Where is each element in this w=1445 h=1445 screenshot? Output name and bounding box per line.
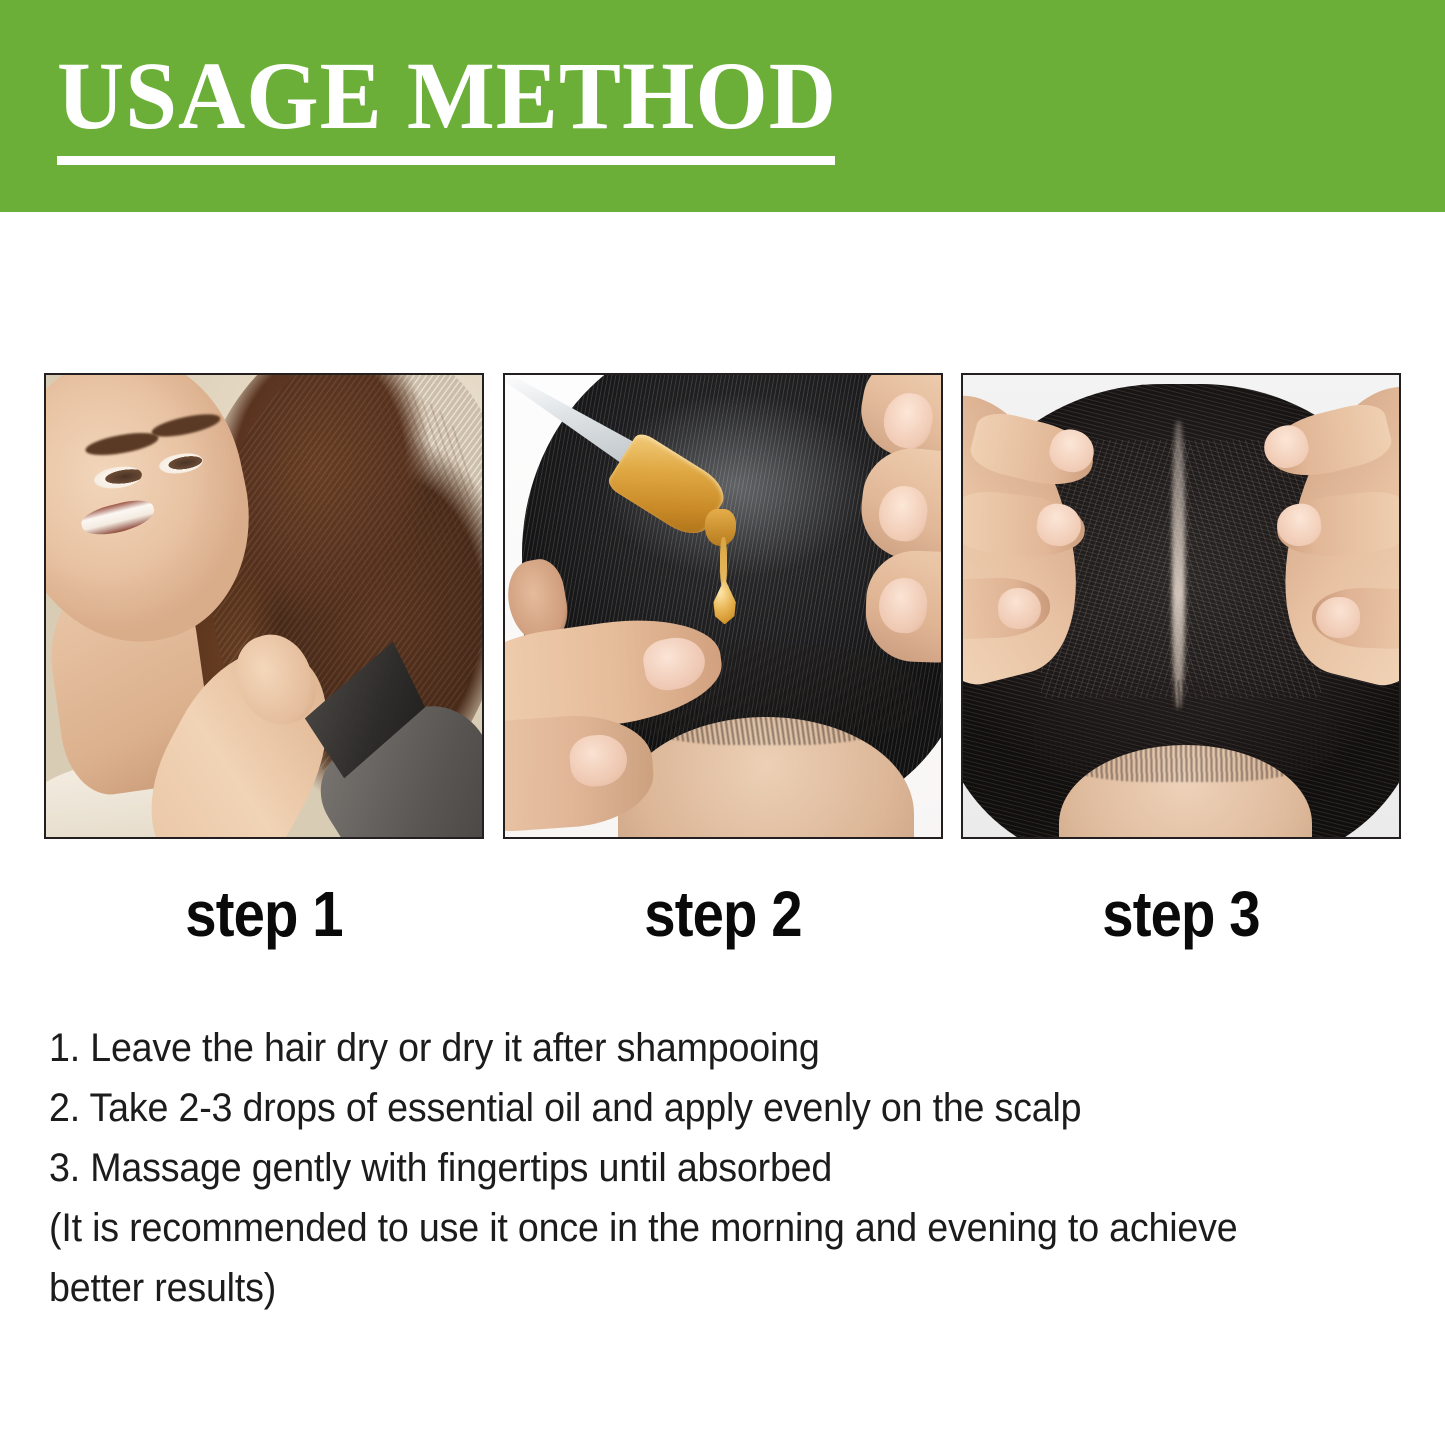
page-title: USAGE METHOD [57, 48, 823, 144]
instruction-line-5: better results) [49, 1258, 1327, 1318]
step-2-image-panel [503, 373, 943, 839]
header-title-group: USAGE METHOD [57, 48, 847, 165]
step-1-flyaway-wisps [273, 384, 474, 597]
instructions-block: 1. Leave the hair dry or dry it after sh… [49, 1018, 1409, 1318]
step-3-center-part [1172, 421, 1185, 707]
step-1-photo-blow-drying-hair [46, 375, 482, 837]
instruction-line-3: 3. Massage gently with fingertips until … [49, 1138, 1327, 1198]
step-2-caption: step 2 [529, 868, 916, 960]
step-3-photo-scalp-massage [963, 375, 1399, 837]
step-3-image-panel [961, 373, 1401, 839]
step-2-photo-applying-oil-dropper [505, 375, 941, 837]
step-3-hairline [1033, 680, 1338, 782]
instruction-line-1: 1. Leave the hair dry or dry it after sh… [49, 1018, 1327, 1078]
header-banner: USAGE METHOD [0, 0, 1445, 212]
usage-method-infographic: USAGE METHOD [0, 0, 1445, 1445]
instruction-line-4: (It is recommended to use it once in the… [49, 1198, 1327, 1258]
step-2-oil-thread [720, 537, 727, 588]
instruction-line-2: 2. Take 2-3 drops of essential oil and a… [49, 1078, 1327, 1138]
step-1-caption: step 1 [70, 868, 457, 960]
step-1-image-panel [44, 373, 484, 839]
step-captions-row: step 1 step 2 step 3 [44, 868, 1401, 960]
step-images-row [44, 373, 1401, 839]
step-3-left-fingernail-3 [998, 588, 1042, 630]
title-underline-rule [57, 156, 835, 165]
step-3-caption: step 3 [987, 868, 1374, 960]
step-3-right-fingernail-3 [1316, 597, 1360, 639]
